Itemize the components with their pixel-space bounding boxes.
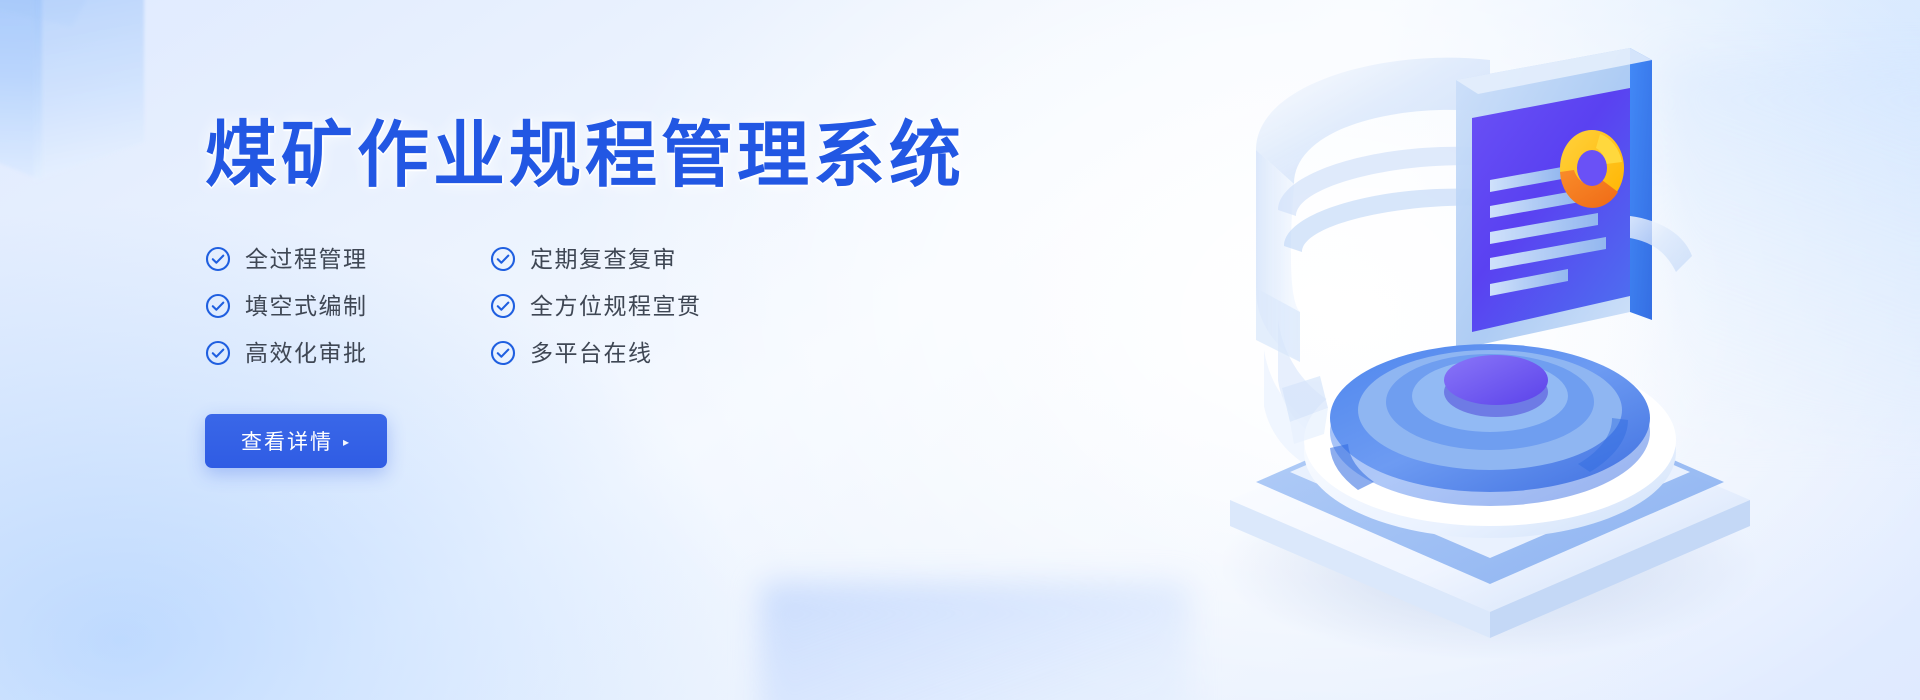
- view-details-label: 查看详情: [241, 426, 333, 456]
- cube-face-top: [0, 0, 127, 27]
- check-circle-icon: [205, 293, 231, 319]
- page-title: 煤矿作业规程管理系统: [205, 118, 965, 194]
- feature-label: 定期复查复审: [530, 248, 677, 271]
- floating-shard: [1282, 376, 1328, 444]
- check-circle-icon: [490, 340, 516, 366]
- feature-item-6: 多平台在线: [490, 340, 965, 366]
- view-details-button[interactable]: 查看详情 ▸: [205, 414, 387, 468]
- feature-item-4: 全方位规程宣贯: [490, 293, 965, 319]
- hero-content: 煤矿作业规程管理系统 全过程管理 定期复查复审: [205, 118, 965, 468]
- feature-item-3: 填空式编制: [205, 293, 490, 319]
- feature-item-2: 定期复查复审: [490, 246, 965, 272]
- glass-ribbon-back: [1256, 58, 1490, 362]
- floating-slab-decoration: [760, 582, 1190, 700]
- check-circle-icon: [490, 293, 516, 319]
- glass-ribbon-front: [1630, 216, 1692, 272]
- document-card: [1456, 48, 1652, 350]
- card-text-lines: [1490, 167, 1606, 296]
- feature-list: 全过程管理 定期复查复审 填空式编制: [205, 246, 965, 366]
- feature-item-1: 全过程管理: [205, 246, 490, 272]
- cube-face-left: [0, 0, 42, 180]
- corner-cube-decoration: [0, 0, 165, 154]
- illustration-shadow: [1220, 470, 1760, 660]
- check-circle-icon: [205, 340, 231, 366]
- hero-banner: 煤矿作业规程管理系统 全过程管理 定期复查复审: [0, 0, 1920, 700]
- right-slab-decoration: [1660, 60, 1920, 440]
- feature-label: 全方位规程宣贯: [530, 295, 702, 318]
- check-circle-icon: [205, 246, 231, 272]
- hero-illustration: [1160, 20, 1800, 680]
- cube-face-right: [34, 0, 144, 182]
- feature-item-5: 高效化审批: [205, 340, 490, 366]
- feature-label: 高效化审批: [245, 342, 368, 365]
- chevron-right-icon: ▸: [343, 436, 351, 448]
- glass-ribbon-inner: [1264, 147, 1490, 470]
- check-circle-icon: [490, 246, 516, 272]
- donut-chart: [1560, 130, 1624, 208]
- platform-base: [1230, 344, 1750, 638]
- feature-label: 多平台在线: [530, 342, 653, 365]
- feature-label: 填空式编制: [245, 295, 368, 318]
- feature-label: 全过程管理: [245, 248, 368, 271]
- soft-glow-decoration: [980, 40, 1740, 600]
